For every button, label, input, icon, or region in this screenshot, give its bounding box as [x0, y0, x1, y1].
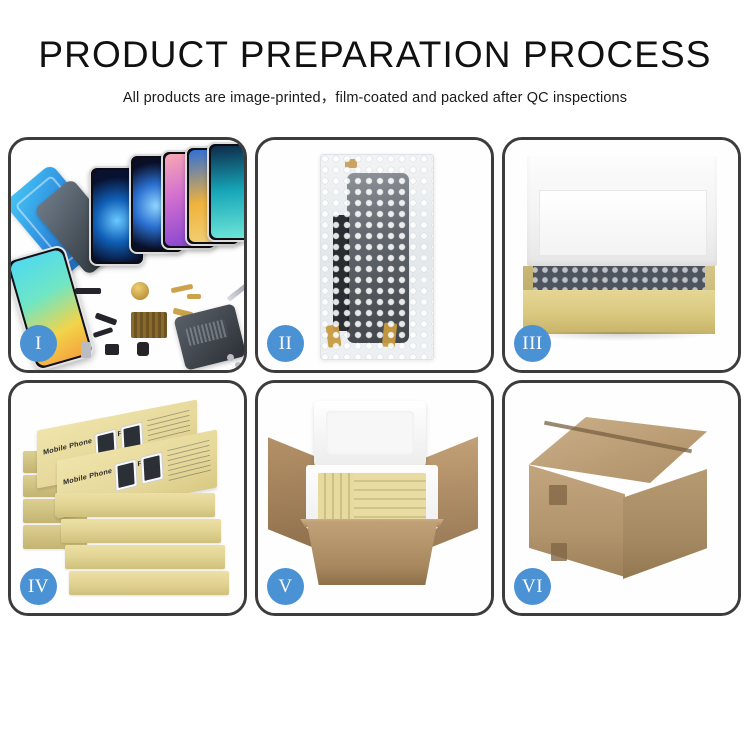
- inner-box-front: [523, 290, 715, 334]
- process-step-1[interactable]: I: [8, 137, 247, 373]
- phone-screen-5: [207, 142, 247, 242]
- page-header: PRODUCT PREPARATION PROCESS All products…: [0, 0, 750, 107]
- process-step-5[interactable]: V: [255, 380, 494, 616]
- process-step-grid: I II III: [8, 137, 742, 616]
- part-battery: [81, 342, 91, 358]
- stacked-box-front-1: [55, 493, 215, 517]
- carton-tape-lower: [551, 543, 567, 561]
- part-screw-1: [227, 354, 234, 361]
- step-badge-2: II: [267, 325, 304, 362]
- bubble-wrap-layer: [531, 266, 709, 292]
- process-step-2[interactable]: II: [255, 137, 494, 373]
- stacked-box-front-2: [61, 519, 221, 543]
- step-badge-6: VI: [514, 568, 551, 605]
- part-connector: [75, 288, 101, 294]
- carton-right-face: [623, 469, 707, 579]
- box-thumbnail-3: [114, 459, 137, 492]
- box-stack: Mobile Phone Spare Parts Mobile Phone Sp…: [21, 401, 235, 597]
- process-step-6[interactable]: VI: [502, 380, 741, 616]
- styrofoam-lid: [314, 401, 426, 467]
- stacked-box-front-4: [69, 571, 229, 595]
- carton-front-panel: [298, 523, 446, 585]
- part-tweezers: [227, 279, 247, 301]
- bubble-texture: [321, 155, 433, 359]
- page-subtitle: All products are image-printed，film-coat…: [0, 86, 750, 107]
- carton-left-face: [529, 465, 625, 577]
- part-vibrator: [137, 342, 149, 356]
- box-feature-list-second: [167, 440, 211, 482]
- bubble-wrap-bag: [320, 154, 434, 360]
- part-circuit-board: [131, 312, 167, 338]
- part-ribbon-1: [95, 312, 118, 325]
- step-badge-3: III: [514, 325, 551, 362]
- part-screw-2: [235, 362, 241, 368]
- part-flex-cable-1: [171, 284, 194, 293]
- process-step-4[interactable]: Mobile Phone Spare Parts Mobile Phone Sp…: [8, 380, 247, 616]
- box-thumbnail-4: [140, 452, 163, 485]
- spare-parts-cluster: [75, 280, 243, 368]
- step-badge-4: IV: [20, 568, 57, 605]
- part-ribbon-2: [93, 327, 114, 338]
- part-flex-cable-2: [187, 294, 201, 299]
- process-step-3[interactable]: III: [502, 137, 741, 373]
- box-drop-shadow: [531, 332, 709, 341]
- page-title: PRODUCT PREPARATION PROCESS: [0, 36, 750, 75]
- part-camera-lens: [131, 282, 149, 300]
- stacked-box-front-3: [65, 545, 225, 569]
- inner-boxes-side: [318, 473, 354, 521]
- carton-tape-upper: [549, 485, 567, 505]
- white-foam-sheet: [539, 190, 707, 256]
- step-badge-1: I: [20, 325, 57, 362]
- step-badge-5: V: [267, 568, 304, 605]
- part-speaker: [105, 344, 119, 355]
